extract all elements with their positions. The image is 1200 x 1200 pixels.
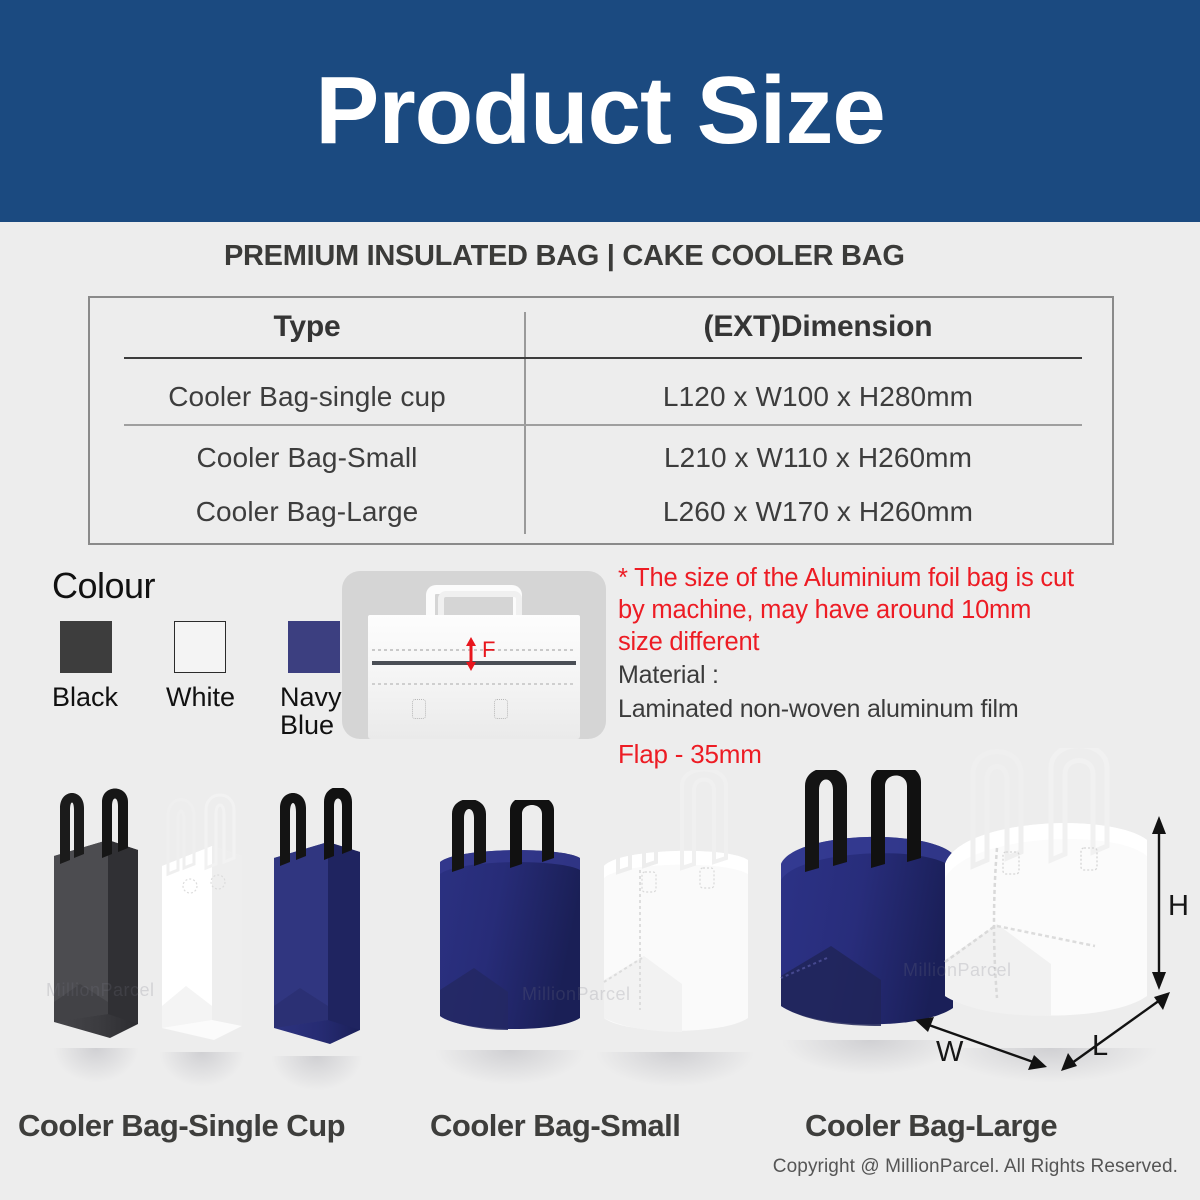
table-rule-middle [124,424,1082,426]
table-header-cell-dimension: (EXT)Dimension [524,298,1112,356]
table-cell-type: Cooler Bag-single cup [90,373,524,421]
product-bag-black-single-cup [50,788,142,1048]
colour-section: Colour Black White Navy Blue [52,565,362,740]
flap-measure-label: F [482,637,495,663]
bag-shadow [783,1040,958,1074]
product-bag-white-large [935,748,1165,1048]
dimension-label-length: L [1092,1030,1108,1063]
dimension-label-width: W [936,1036,963,1069]
product-bag-navy-single-cup [268,788,366,1056]
flap-stitch-line-bottom [372,683,576,685]
flap-diagram-box: F [342,571,606,739]
page-header: Product Size [0,0,1200,222]
bag-shadow [436,1050,583,1084]
bag-shadow [160,1052,245,1086]
swatch-label-black: Black [52,683,142,711]
table-header-cell-type: Type [90,298,524,356]
swatch-black [60,621,112,673]
table-cell-dimension: L210 x W110 x H260mm [524,433,1112,483]
bag-illustration [430,800,590,1050]
table-cell-dimension-value: L120 x W100 x H280mm [663,381,973,413]
flap-measure-arrow-icon [464,637,478,671]
dimension-label-height: H [1168,890,1189,923]
bag-shadow [597,1052,753,1086]
table-row: Cooler Bag-single cup L120 x W100 x H280… [90,373,1112,421]
bag-shadow [944,1048,1156,1082]
table-header-dimension-label: (EXT)Dimension [704,310,933,344]
flap-care-tag-left [412,699,426,719]
product-label-single-cup: Cooler Bag-Single Cup [18,1108,345,1144]
product-group-large: MillionParcel Cooler Bag-Large [775,748,1175,1078]
bag-illustration [935,748,1165,1048]
product-label-large: Cooler Bag-Large [805,1108,1057,1144]
table-cell-dimension-value: L210 x W110 x H260mm [664,442,972,474]
swatch-navy-blue [288,621,340,673]
bag-shadow [54,1048,139,1082]
product-size-infographic: Product Size PREMIUM INSULATED BAG | CAK… [0,0,1200,1200]
table-cell-type-value: Cooler Bag-single cup [168,381,446,413]
table-row: Cooler Bag-Small L210 x W110 x H260mm [90,433,1112,483]
swatch-label-white: White [166,683,256,711]
product-subtitle: PREMIUM INSULATED BAG | CAKE COOLER BAG [224,240,905,273]
bag-illustration [268,788,366,1056]
table-cell-dimension: L260 x W170 x H260mm [524,487,1112,537]
colour-swatch-item: Black [52,621,134,740]
table-cell-type: Cooler Bag-Large [90,487,524,537]
product-group-single-cup: MillionParcel Cooler Bag-Single Cup [10,748,410,1078]
product-label-small: Cooler Bag-Small [430,1108,680,1144]
bag-illustration [590,770,760,1052]
note-warning-text: * The size of the Aluminium foil bag is … [618,562,1188,658]
colour-swatch-item: White [166,621,248,740]
spec-table: Type (EXT)Dimension Cooler Bag-single cu… [88,296,1114,545]
table-header-type-label: Type [274,310,341,344]
bag-shadow [272,1056,362,1090]
table-cell-type: Cooler Bag-Small [90,433,524,483]
colour-swatch-row: Black White Navy Blue [52,621,362,740]
product-gallery: MillionParcel Cooler Bag-Single Cup [0,748,1200,1148]
table-header-row: Type (EXT)Dimension [90,298,1112,356]
product-bag-white-single-cup [156,780,248,1052]
table-cell-dimension-value: L260 x W170 x H260mm [663,496,973,528]
bag-illustration [50,788,142,1048]
page-title: Product Size [315,63,884,159]
product-group-small: MillionParcel Cooler Bag-Small [410,748,790,1078]
table-cell-type-value: Cooler Bag-Small [196,442,417,474]
note-material-value: Laminated non-woven aluminum film [618,694,1188,726]
colour-heading: Colour [52,565,362,607]
table-row: Cooler Bag-Large L260 x W170 x H260mm [90,487,1112,537]
bag-illustration [156,780,248,1052]
note-material-label: Material : [618,660,1188,692]
table-cell-type-value: Cooler Bag-Large [196,496,419,528]
product-bag-white-small [590,770,760,1052]
notes-section: * The size of the Aluminium foil bag is … [618,562,1188,770]
product-bag-navy-small [430,800,590,1050]
table-cell-dimension: L120 x W100 x H280mm [524,373,1112,421]
flap-care-tag-right [494,699,508,719]
copyright-footer: Copyright @ MillionParcel. All Rights Re… [773,1156,1178,1178]
swatch-white [174,621,226,673]
flap-bag-body [368,615,580,739]
table-rule-top [124,357,1082,359]
